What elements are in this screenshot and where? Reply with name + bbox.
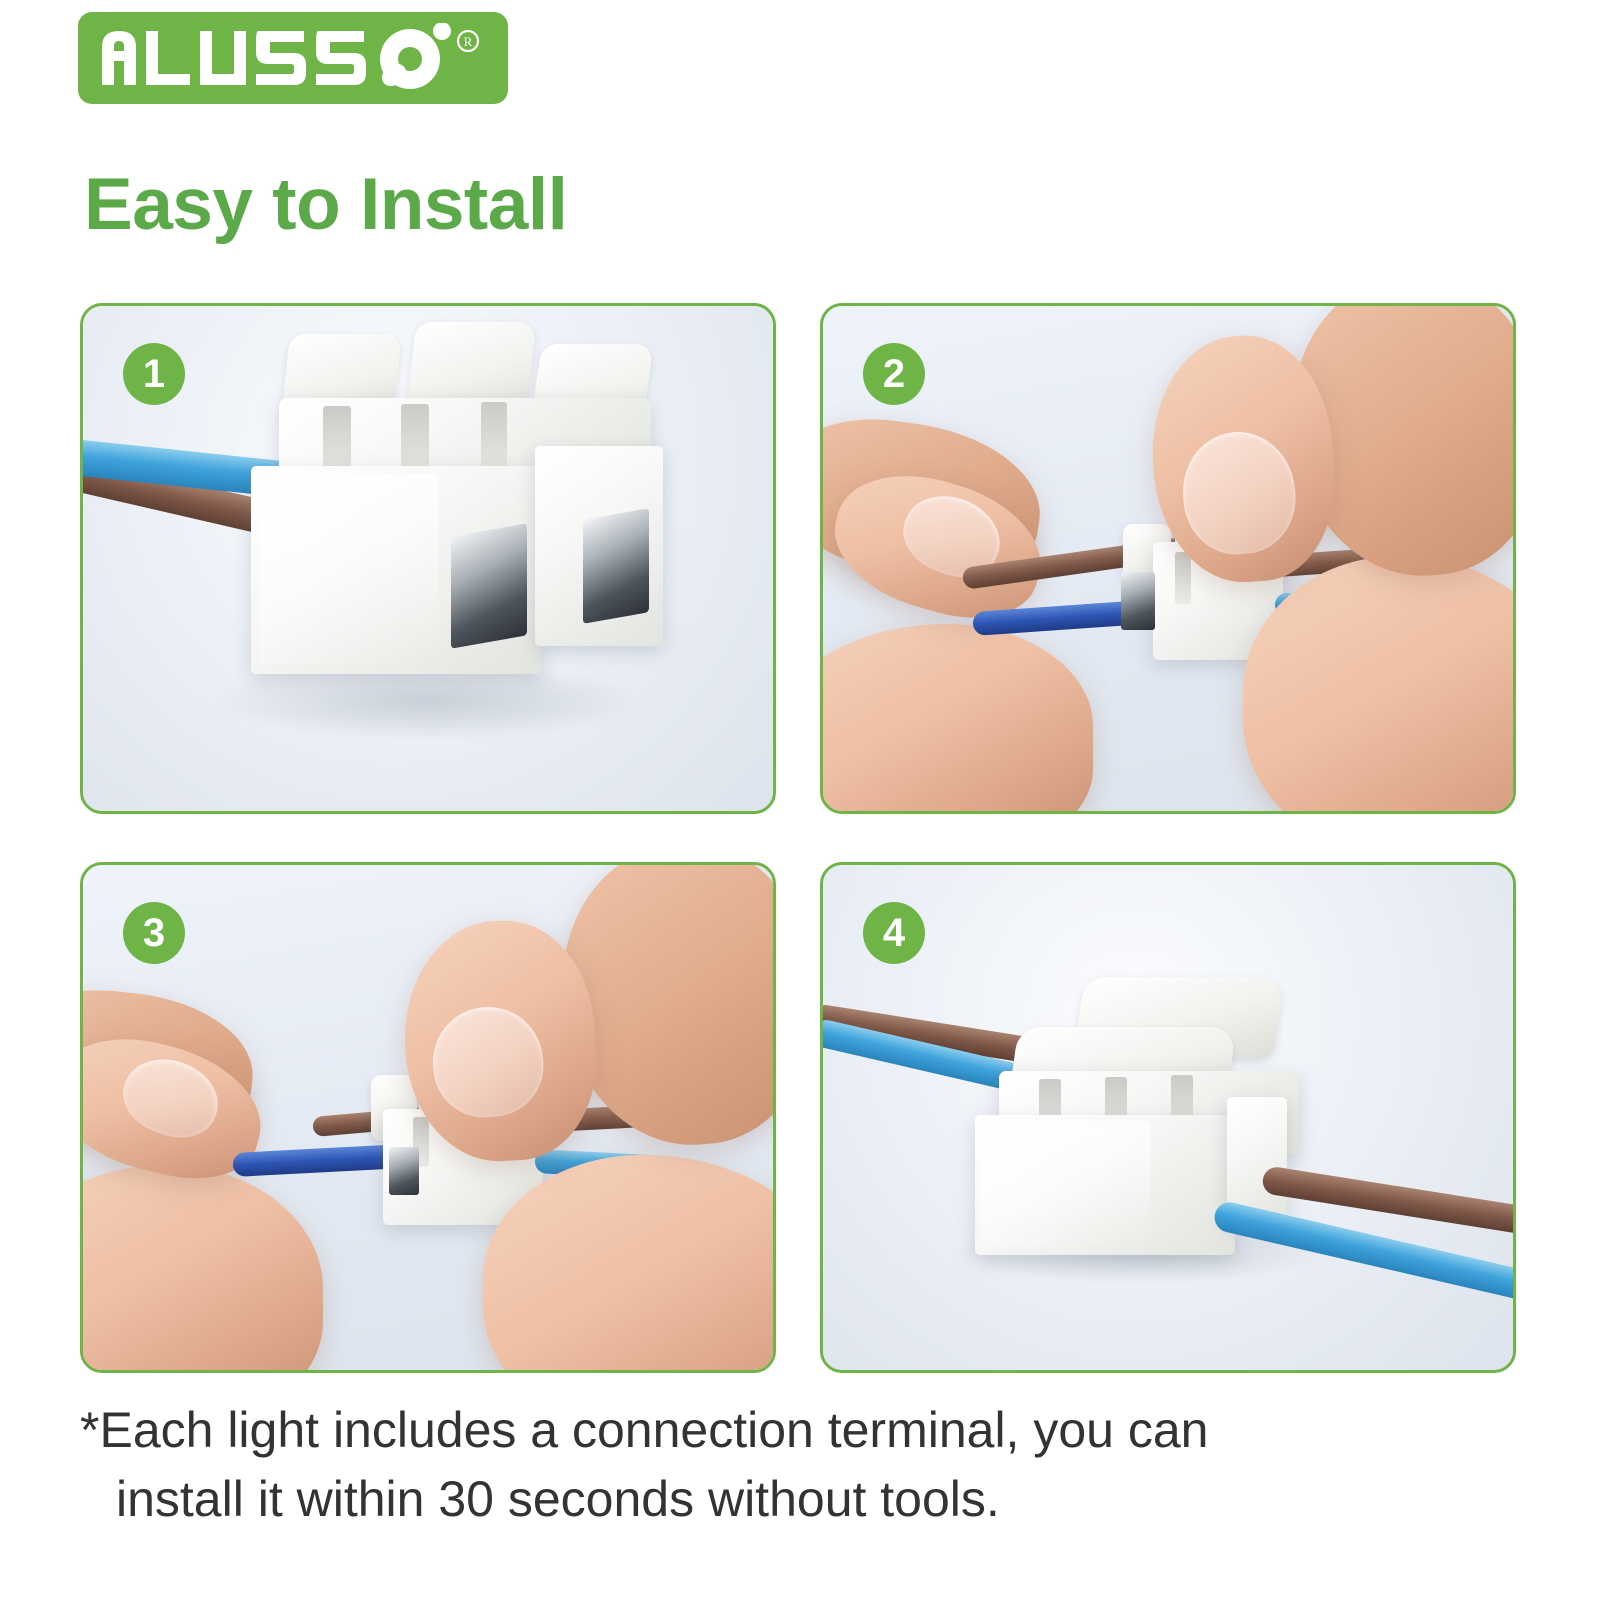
step-panel-3: 3 <box>80 862 776 1373</box>
footer-star: * <box>80 1402 99 1458</box>
metal-clip <box>389 1147 419 1195</box>
step-badge-1: 1 <box>123 343 185 405</box>
step-badge-4: 4 <box>863 902 925 964</box>
step-panel-2: 2 <box>820 303 1516 814</box>
step-badge-2: 2 <box>863 343 925 405</box>
metal-clip-right <box>583 508 649 624</box>
metal-clip <box>1121 572 1155 630</box>
step-2-photo <box>823 306 1513 811</box>
step-1-photo <box>83 306 773 811</box>
footer-note: *Each light includes a connection termin… <box>80 1396 1530 1534</box>
step-panel-1: 1 <box>80 303 776 814</box>
metal-clip-left <box>451 523 527 648</box>
svg-text:R: R <box>464 34 473 49</box>
registered-trademark-icon: R <box>458 31 478 51</box>
step-panel-4: 4 <box>820 862 1516 1373</box>
body-highlight <box>259 474 439 664</box>
body-highlight <box>981 1121 1151 1247</box>
connector-slot <box>1175 552 1191 604</box>
brand-logo-badge: R <box>78 12 508 104</box>
step-4-photo <box>823 865 1513 1370</box>
page-title: Easy to Install <box>84 168 567 241</box>
alusso-wordmark: R <box>98 23 488 93</box>
footer-line-1: Each light includes a connection termina… <box>99 1402 1208 1458</box>
step-badge-3: 3 <box>123 902 185 964</box>
step-3-photo <box>83 865 773 1370</box>
footer-line-2: install it within 30 seconds without too… <box>80 1465 1530 1534</box>
